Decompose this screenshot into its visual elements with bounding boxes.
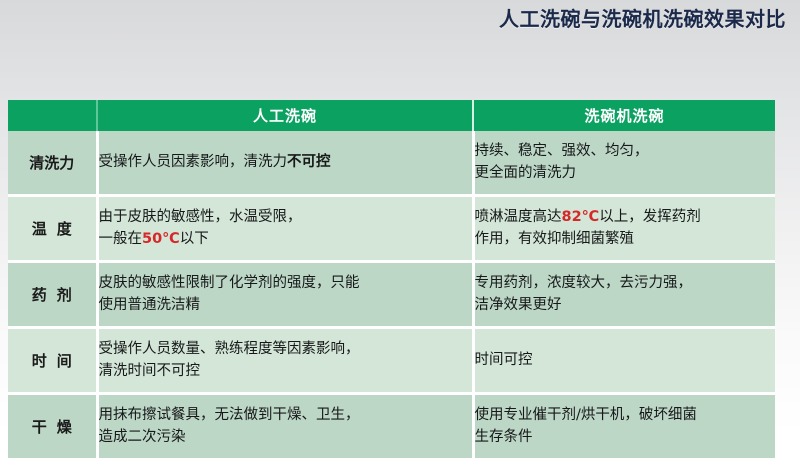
text-segment: 用抹布擦试餐具，无法做到干燥、卫生， xyxy=(99,407,360,423)
cell-line: 喷淋温度高达82℃以上，发挥药剂 xyxy=(475,207,776,228)
cell-line: 清洗时间不可控 xyxy=(99,361,472,382)
cell-line: 作用，有效抑制细菌繁殖 xyxy=(475,229,776,250)
slide-canvas: 人工洗碗与洗碗机洗碗效果对比 人工洗碗 洗碗机洗碗 清洗力受操作人员因素影响，清… xyxy=(0,0,800,470)
cell-manual: 受操作人员因素影响，清洗力不可控 xyxy=(97,131,473,196)
row-attribute-cell: 温度 xyxy=(8,196,97,262)
table-header: 人工洗碗 洗碗机洗碗 xyxy=(8,100,775,131)
row-attribute-label: 干燥 xyxy=(22,416,82,437)
row-attribute-label: 温度 xyxy=(22,218,82,239)
cell-manual: 由于皮肤的敏感性，水温受限，一般在50℃以下 xyxy=(97,196,473,262)
table-body: 清洗力受操作人员因素影响，清洗力不可控持续、稳定、强效、均匀，更全面的清洗力温度… xyxy=(8,131,775,458)
row-attribute-cell: 时间 xyxy=(8,328,97,394)
cell-dishwasher: 专用药剂，浓度较大，去污力强，洁净效果更好 xyxy=(473,262,775,328)
row-attribute-cell: 药剂 xyxy=(8,262,97,328)
text-segment: 以上，发挥药剂 xyxy=(599,209,701,225)
text-segment: 更全面的清洗力 xyxy=(475,165,577,181)
column-header-attribute xyxy=(8,100,97,131)
table-row: 温度由于皮肤的敏感性，水温受限，一般在50℃以下喷淋温度高达82℃以上，发挥药剂… xyxy=(8,196,775,262)
cell-line: 更全面的清洗力 xyxy=(475,163,776,184)
cell-line: 持续、稳定、强效、均匀， xyxy=(475,141,776,162)
row-attribute-label: 药剂 xyxy=(22,284,82,305)
text-segment: 使用专业催干剂/烘干机，破坏细菌 xyxy=(475,407,697,423)
text-segment: 皮肤的敏感性限制了化学剂的强度，只能 xyxy=(99,275,360,291)
row-attribute-label: 时间 xyxy=(22,350,82,371)
comparison-table-container: 人工洗碗 洗碗机洗碗 清洗力受操作人员因素影响，清洗力不可控持续、稳定、强效、均… xyxy=(8,100,775,458)
cell-dishwasher: 喷淋温度高达82℃以上，发挥药剂作用，有效抑制细菌繁殖 xyxy=(473,196,775,262)
table-header-row: 人工洗碗 洗碗机洗碗 xyxy=(8,100,775,131)
cell-line: 造成二次污染 xyxy=(99,427,472,448)
cell-dishwasher: 持续、稳定、强效、均匀，更全面的清洗力 xyxy=(473,131,775,196)
row-attribute-cell: 干燥 xyxy=(8,394,97,459)
text-segment: 使用普通洗洁精 xyxy=(99,297,201,313)
row-attribute-label: 清洗力 xyxy=(29,152,74,173)
cell-line: 使用普通洗洁精 xyxy=(99,295,472,316)
text-segment: 以下 xyxy=(180,231,209,247)
text-segment: 受操作人员因素影响，清洗力 xyxy=(99,154,288,170)
title-band: 人工洗碗与洗碗机洗碗效果对比 xyxy=(0,0,800,34)
text-segment: 喷淋温度高达 xyxy=(475,209,562,225)
comparison-table: 人工洗碗 洗碗机洗碗 清洗力受操作人员因素影响，清洗力不可控持续、稳定、强效、均… xyxy=(8,100,775,458)
cell-line: 洁净效果更好 xyxy=(475,295,776,316)
page-title: 人工洗碗与洗碗机洗碗效果对比 xyxy=(499,3,786,32)
table-row: 干燥用抹布擦试餐具，无法做到干燥、卫生，造成二次污染使用专业催干剂/烘干机，破坏… xyxy=(8,394,775,459)
cell-line: 使用专业催干剂/烘干机，破坏细菌 xyxy=(475,405,776,426)
cell-line: 用抹布擦试餐具，无法做到干燥、卫生， xyxy=(99,405,472,426)
column-header-dishwasher: 洗碗机洗碗 xyxy=(473,100,775,131)
cell-dishwasher: 时间可控 xyxy=(473,328,775,394)
cell-manual: 用抹布擦试餐具，无法做到干燥、卫生，造成二次污染 xyxy=(97,394,473,459)
text-segment: 作用，有效抑制细菌繁殖 xyxy=(475,231,635,247)
text-segment: 造成二次污染 xyxy=(99,429,186,445)
cell-manual: 皮肤的敏感性限制了化学剂的强度，只能使用普通洗洁精 xyxy=(97,262,473,328)
cell-line: 皮肤的敏感性限制了化学剂的强度，只能 xyxy=(99,273,472,294)
cell-dishwasher: 使用专业催干剂/烘干机，破坏细菌生存条件 xyxy=(473,394,775,459)
text-segment: 受操作人员数量、熟练程度等因素影响， xyxy=(99,341,360,357)
text-segment: 时间可控 xyxy=(475,352,533,368)
row-attribute-cell: 清洗力 xyxy=(8,131,97,196)
highlight-emphasis: 不可控 xyxy=(287,154,331,170)
cell-line: 由于皮肤的敏感性，水温受限， xyxy=(99,207,472,228)
column-header-manual: 人工洗碗 xyxy=(97,100,473,131)
text-segment: 持续、稳定、强效、均匀， xyxy=(475,143,649,159)
highlight-temperature: 50℃ xyxy=(142,231,180,247)
cell-line: 专用药剂，浓度较大，去污力强， xyxy=(475,273,776,294)
cell-line: 生存条件 xyxy=(475,427,776,448)
text-segment: 专用药剂，浓度较大，去污力强， xyxy=(475,275,693,291)
text-segment: 由于皮肤的敏感性，水温受限， xyxy=(99,209,302,225)
cell-line: 受操作人员因素影响，清洗力不可控 xyxy=(99,152,472,173)
cell-line: 时间可控 xyxy=(475,350,776,371)
cell-line: 一般在50℃以下 xyxy=(99,229,472,250)
highlight-temperature: 82℃ xyxy=(562,209,600,225)
cell-manual: 受操作人员数量、熟练程度等因素影响，清洗时间不可控 xyxy=(97,328,473,394)
table-row: 药剂皮肤的敏感性限制了化学剂的强度，只能使用普通洗洁精专用药剂，浓度较大，去污力… xyxy=(8,262,775,328)
table-row: 清洗力受操作人员因素影响，清洗力不可控持续、稳定、强效、均匀，更全面的清洗力 xyxy=(8,131,775,196)
table-row: 时间受操作人员数量、熟练程度等因素影响，清洗时间不可控时间可控 xyxy=(8,328,775,394)
text-segment: 一般在 xyxy=(99,231,143,247)
text-segment: 清洗时间不可控 xyxy=(99,363,201,379)
cell-line: 受操作人员数量、熟练程度等因素影响， xyxy=(99,339,472,360)
text-segment: 洁净效果更好 xyxy=(475,297,562,313)
text-segment: 生存条件 xyxy=(475,429,533,445)
